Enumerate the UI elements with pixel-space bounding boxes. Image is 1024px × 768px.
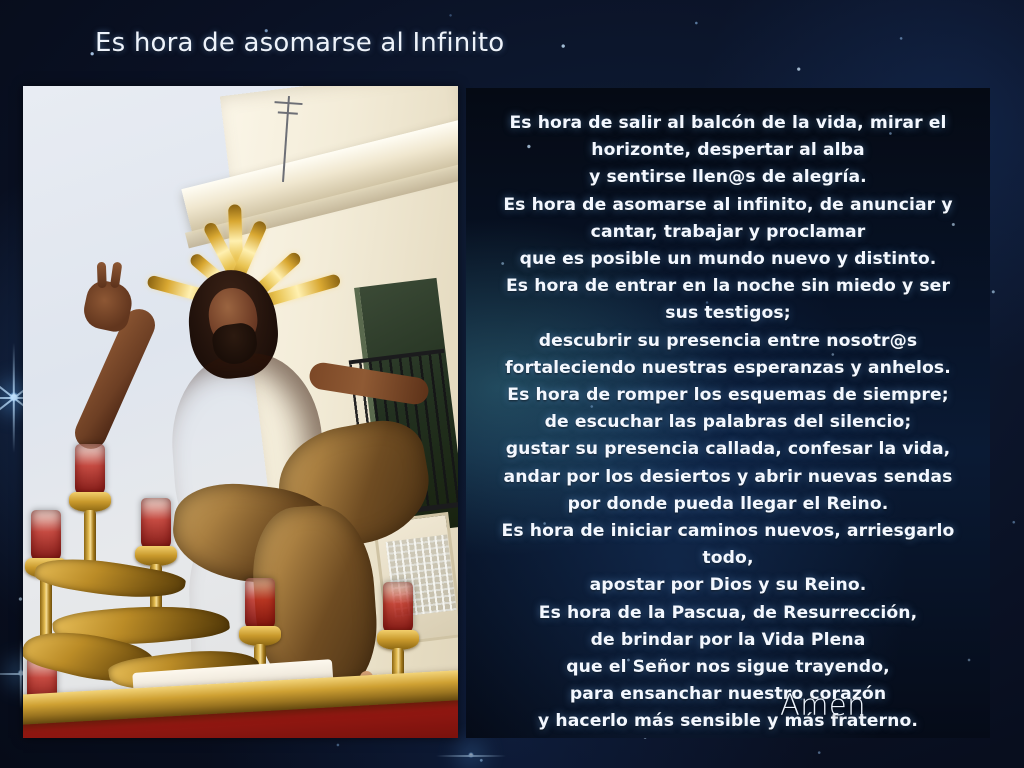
poem-line: que el Señor nos sigue trayendo, bbox=[474, 654, 982, 681]
poem-line: para ensanchar nuestro corazón bbox=[474, 681, 982, 708]
page-title: Es hora de asomarse al Infinito bbox=[95, 28, 504, 58]
poem-panel: Es hora de salir al balcón de la vida, m… bbox=[466, 88, 990, 738]
amen-overlay-text: Amen bbox=[780, 688, 866, 722]
poem-line: Es hora de asomarse al infinito, de anun… bbox=[474, 192, 982, 219]
poem-line: de escuchar las palabras del silencio; bbox=[474, 409, 982, 436]
slide-canvas: Es hora de asomarse al Infinito bbox=[0, 0, 1024, 768]
poem-line: y sentirse llen@s de alegría. bbox=[474, 164, 982, 191]
poem-text: Es hora de salir al balcón de la vida, m… bbox=[474, 110, 982, 736]
poem-line: Es hora de entrar en la noche sin miedo … bbox=[474, 273, 982, 300]
candle-glass bbox=[245, 578, 275, 630]
poem-line: Es hora de iniciar caminos nuevos, arrie… bbox=[474, 518, 982, 545]
poem-line: gustar su presencia callada, confesar la… bbox=[474, 436, 982, 463]
poem-line: Es hora de la Pascua, de Resurrección, bbox=[474, 600, 982, 627]
candle-cup bbox=[69, 492, 111, 512]
poem-line: andar por los desiertos y abrir nuevas s… bbox=[474, 464, 982, 491]
poem-line: que es posible un mundo nuevo y distinto… bbox=[474, 246, 982, 273]
poem-line: todo, bbox=[474, 545, 982, 572]
candle-cup bbox=[239, 626, 281, 646]
candle-glass bbox=[31, 510, 61, 562]
poem-line: cantar, trabajar y proclamar bbox=[474, 219, 982, 246]
photo-inner bbox=[23, 86, 458, 738]
poem-line: y hacerlo más sensible y más fraterno. bbox=[474, 708, 982, 735]
candle-stem bbox=[40, 576, 52, 640]
candle-cup bbox=[377, 630, 419, 650]
poem-line: apostar por Dios y su Reino. bbox=[474, 572, 982, 599]
candle-glass bbox=[383, 582, 413, 634]
poem-line: por donde pueda llegar el Reino. bbox=[474, 491, 982, 518]
procession-photo bbox=[23, 86, 458, 738]
poem-line: de brindar por la Vida Plena bbox=[474, 627, 982, 654]
poem-line: descubrir su presencia entre nosotr@s bbox=[474, 328, 982, 355]
candle-cup bbox=[135, 546, 177, 566]
candle-glass bbox=[75, 444, 105, 496]
poem-line: fortaleciendo nuestras esperanzas y anhe… bbox=[474, 355, 982, 382]
candle-glass bbox=[141, 498, 171, 550]
poem-line: Es hora de romper los esquemas de siempr… bbox=[474, 382, 982, 409]
poem-line: horizonte, despertar al alba bbox=[474, 137, 982, 164]
poem-line: Es hora de salir al balcón de la vida, m… bbox=[474, 110, 982, 137]
poem-line: sus testigos; bbox=[474, 300, 982, 327]
